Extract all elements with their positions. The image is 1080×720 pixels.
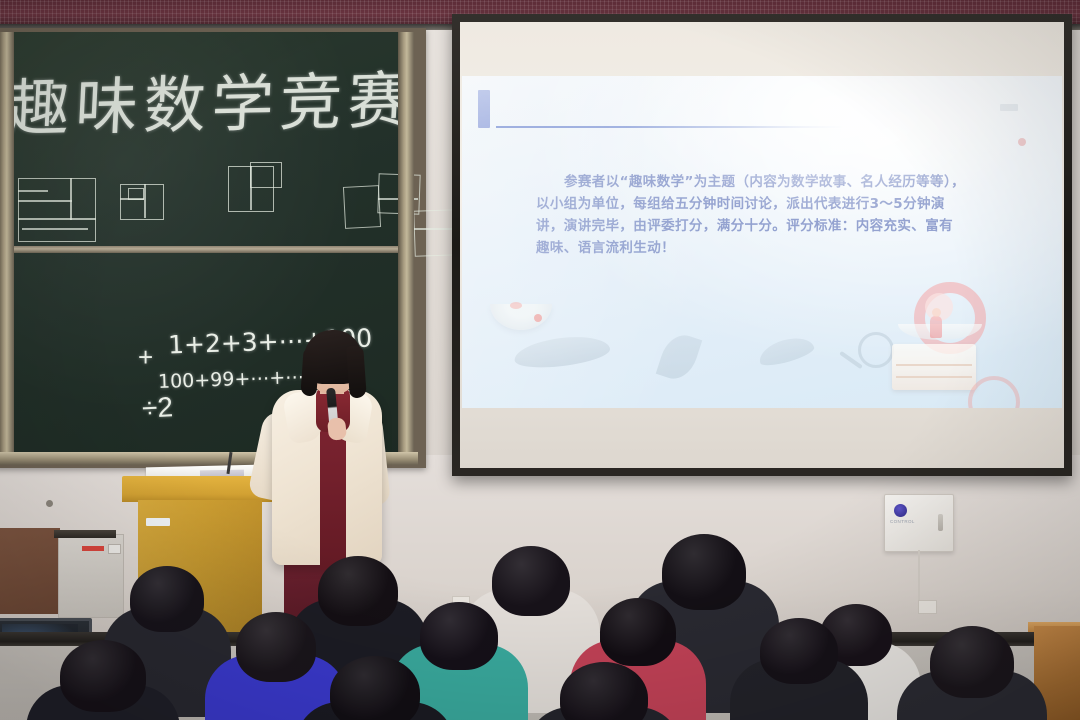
panel-brand-icon bbox=[894, 504, 907, 517]
student-j-head bbox=[930, 626, 1014, 698]
person-illustration bbox=[930, 316, 942, 338]
magnifier-icon bbox=[858, 332, 894, 368]
student-g-head bbox=[420, 602, 498, 670]
student-l-head bbox=[330, 656, 420, 720]
board-pointer-pole bbox=[54, 530, 116, 538]
person-head-illustration bbox=[932, 308, 941, 317]
cabinet-handle[interactable] bbox=[108, 544, 121, 554]
books-illustration bbox=[892, 344, 976, 390]
leaf-illustration-3 bbox=[756, 333, 816, 370]
wall-fixture bbox=[46, 500, 53, 507]
student-h-head bbox=[600, 598, 676, 666]
notice-board bbox=[0, 528, 60, 614]
blackboard-headline: 趣味数学竞赛 bbox=[6, 50, 419, 149]
power-outlet-2[interactable] bbox=[918, 600, 937, 614]
blackboard-divide-operator: ÷2 bbox=[141, 391, 174, 425]
panel-switch[interactable] bbox=[938, 514, 943, 531]
blackboard-rail-left bbox=[0, 32, 14, 460]
bowl-topping-icon bbox=[510, 302, 522, 309]
student-k-head bbox=[60, 640, 146, 712]
blackboard-plus-operator: + bbox=[138, 342, 153, 373]
presenter-hair-left bbox=[300, 348, 319, 397]
leaf-illustration-2 bbox=[656, 330, 703, 384]
slide-corner-mark-red bbox=[1018, 138, 1026, 146]
student-f-head bbox=[236, 612, 316, 682]
slide-body-text: 参赛者以“趣味数学”为主题（内容为数学故事、名人经历等等），以小组为单位，每组给… bbox=[536, 172, 966, 259]
panel-brand-label: CONTROL bbox=[890, 519, 934, 524]
book-line-icon bbox=[896, 364, 972, 366]
classroom-photo: 趣味数学竞赛 + 1 bbox=[0, 0, 1080, 720]
slide-title-rule bbox=[496, 126, 844, 128]
book-line-icon-2 bbox=[896, 376, 972, 378]
presentation-slide: 参赛者以“趣味数学”为主题（内容为数学故事、名人经历等等），以小组为单位，每组给… bbox=[462, 76, 1062, 408]
student-i-head bbox=[760, 618, 838, 684]
presenter-hand bbox=[327, 417, 347, 441]
student-d-head bbox=[662, 534, 746, 610]
blackboard-rail-right bbox=[398, 32, 414, 460]
slide-accent-bar bbox=[478, 90, 490, 128]
bowl-topping-icon-2 bbox=[534, 314, 542, 322]
slide-corner-mark bbox=[1000, 104, 1018, 111]
student-a-head bbox=[130, 566, 204, 632]
leaf-illustration bbox=[513, 332, 612, 371]
bowl-illustration bbox=[490, 304, 552, 330]
student-c-head bbox=[492, 546, 570, 616]
student-b-head bbox=[318, 556, 398, 626]
presenter-hair-right bbox=[346, 345, 367, 398]
presenter-inner-top bbox=[320, 424, 346, 570]
lectern-label bbox=[146, 518, 170, 526]
cabinet-warning-sticker bbox=[82, 546, 104, 551]
blackboard-seam bbox=[0, 246, 414, 253]
panel-cable bbox=[918, 550, 920, 604]
